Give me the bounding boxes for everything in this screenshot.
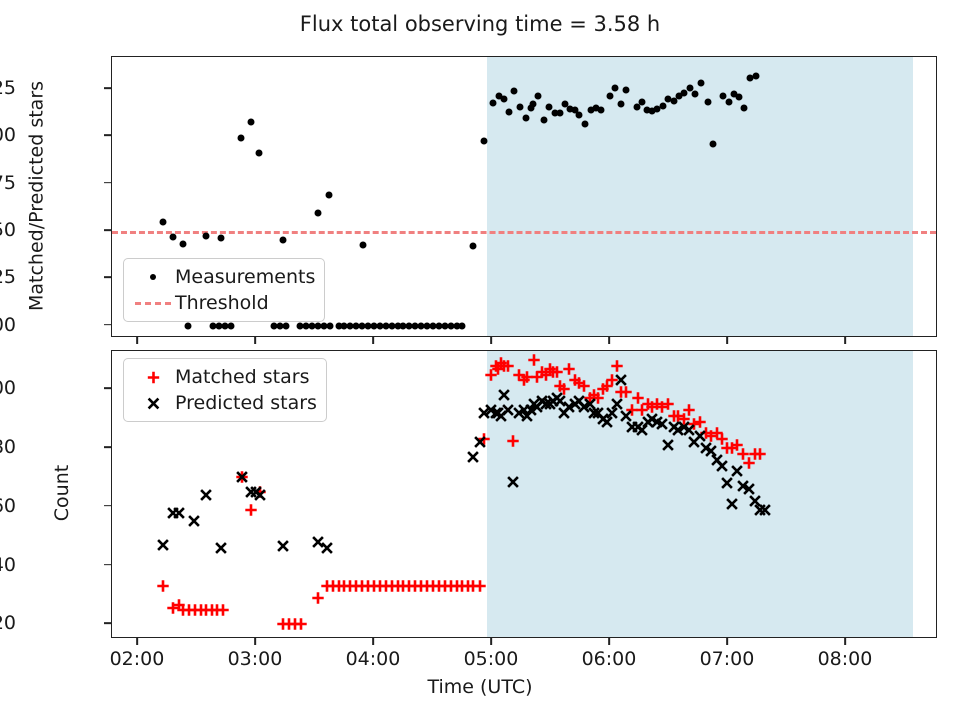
measurement-point xyxy=(500,96,507,103)
matched-star-point xyxy=(473,580,486,593)
threshold-line xyxy=(112,231,936,234)
matched-star-point xyxy=(216,603,229,616)
predicted-star-point xyxy=(320,541,333,554)
measurement-point xyxy=(459,322,466,329)
y-tick-mark xyxy=(104,229,111,231)
threshold-marker-icon xyxy=(135,302,171,305)
measurement-point xyxy=(581,121,588,128)
y-tick-label: 80 xyxy=(0,436,16,458)
measurement-point xyxy=(576,112,583,119)
legend-key xyxy=(131,371,175,384)
legend-label: Measurements xyxy=(175,266,315,288)
predicted-star-point xyxy=(720,477,733,490)
predicted-star-point xyxy=(731,465,744,478)
measurement-point xyxy=(691,91,698,98)
matched-star-point xyxy=(506,434,519,447)
matched-star-point xyxy=(294,618,307,631)
y-tick-mark xyxy=(104,446,111,448)
y-tick-mark xyxy=(104,564,111,566)
y-tick-mark xyxy=(104,182,111,184)
predicted-star-point xyxy=(716,459,729,472)
measurement-point xyxy=(622,86,629,93)
legend-label: Matched stars xyxy=(175,366,309,388)
measurement-point xyxy=(720,92,727,99)
measurement-point xyxy=(556,109,563,116)
predicted-star-point xyxy=(253,489,266,502)
y-tick-label: 0.50 xyxy=(0,219,16,241)
x-tick-mark xyxy=(726,337,728,344)
measurement-point xyxy=(517,103,524,110)
y-tick-mark xyxy=(104,277,111,279)
measurement-point xyxy=(735,93,742,100)
measurement-point xyxy=(326,191,333,198)
y-tick-label: 0.75 xyxy=(0,172,16,194)
predicted-star-point xyxy=(615,374,628,387)
x-tick-mark xyxy=(844,337,846,344)
legend-label: Predicted stars xyxy=(175,392,317,414)
y-tick-label: 20 xyxy=(0,612,16,634)
predicted-star-point xyxy=(758,503,771,516)
x-tick-mark xyxy=(490,337,492,344)
x-tick-label: 08:00 xyxy=(818,648,873,670)
predicted-star-marker-icon xyxy=(147,397,160,410)
measurement-point xyxy=(710,141,717,148)
predicted-star-point xyxy=(473,436,486,449)
y-tick-mark xyxy=(104,324,111,326)
matched-star-point xyxy=(753,447,766,460)
measurement-point xyxy=(237,135,244,142)
x-tick-mark xyxy=(608,337,610,344)
measurement-point xyxy=(540,117,547,124)
measurements-marker-icon xyxy=(150,274,156,280)
measurement-point xyxy=(359,242,366,249)
x-tick-mark xyxy=(136,638,138,645)
y-tick-label: 40 xyxy=(0,554,16,576)
x-tick-mark xyxy=(726,638,728,645)
measurement-point xyxy=(326,322,333,329)
x-tick-mark xyxy=(372,638,374,645)
y-tick-label: 1.25 xyxy=(0,77,16,99)
x-tick-label: 03:00 xyxy=(228,648,283,670)
y-tick-mark xyxy=(104,387,111,389)
legend-key xyxy=(131,274,175,280)
measurement-point xyxy=(612,85,619,92)
x-tick-mark xyxy=(372,337,374,344)
x-tick-label: 02:00 xyxy=(110,648,165,670)
ratio-y-axis-label: Matched/Predicted stars xyxy=(26,55,48,336)
y-tick-mark xyxy=(104,622,111,624)
y-tick-label: 60 xyxy=(0,495,16,517)
x-tick-mark xyxy=(608,638,610,645)
x-tick-mark xyxy=(490,638,492,645)
ratio-legend: MeasurementsThreshold xyxy=(123,258,325,322)
legend-key xyxy=(131,302,175,305)
x-tick-mark xyxy=(844,638,846,645)
measurement-point xyxy=(522,114,529,121)
measurement-point xyxy=(179,240,186,247)
measurement-point xyxy=(697,79,704,86)
y-tick-label: 0.25 xyxy=(0,266,16,288)
y-tick-label: 0.00 xyxy=(0,314,16,336)
measurement-point xyxy=(638,98,645,105)
matched-star-point xyxy=(611,359,624,372)
predicted-star-point xyxy=(199,489,212,502)
predicted-star-point xyxy=(506,475,519,488)
x-tick-mark xyxy=(254,638,256,645)
predicted-star-point xyxy=(235,471,248,484)
measurement-point xyxy=(740,105,747,112)
legend-entry: Predicted stars xyxy=(131,390,317,416)
predicted-star-point xyxy=(172,506,185,519)
legend-label: Threshold xyxy=(175,292,269,314)
measurement-point xyxy=(506,108,513,115)
count-y-axis-label: Count xyxy=(51,349,73,637)
measurement-point xyxy=(160,219,167,226)
x-tick-label: 04:00 xyxy=(346,648,401,670)
x-tick-label: 06:00 xyxy=(582,648,637,670)
measurement-point xyxy=(170,233,177,240)
y-tick-mark xyxy=(104,505,111,507)
measurement-point xyxy=(606,93,613,100)
legend-entry: Measurements xyxy=(131,264,315,290)
predicted-star-point xyxy=(661,439,674,452)
measurement-point xyxy=(283,322,290,329)
y-tick-label: 1.00 xyxy=(0,124,16,146)
predicted-star-point xyxy=(214,541,227,554)
legend-entry: Threshold xyxy=(131,290,315,316)
measurement-point xyxy=(247,118,254,125)
legend-key xyxy=(131,397,175,410)
measurement-point xyxy=(660,103,667,110)
measurement-point xyxy=(529,100,536,107)
measurement-point xyxy=(228,322,235,329)
measurement-point xyxy=(726,99,733,106)
x-tick-mark xyxy=(254,337,256,344)
y-tick-mark xyxy=(104,87,111,89)
x-tick-mark xyxy=(136,337,138,344)
predicted-star-point xyxy=(726,497,739,510)
matched-star-point xyxy=(311,591,324,604)
measurement-point xyxy=(598,106,605,113)
measurement-point xyxy=(617,101,624,108)
measurement-point xyxy=(511,88,518,95)
predicted-star-point xyxy=(188,515,201,528)
measurement-point xyxy=(534,93,541,100)
predicted-star-point xyxy=(497,389,510,402)
figure: Flux total observing time = 3.58 h 0.000… xyxy=(0,0,960,720)
measurement-point xyxy=(704,99,711,106)
measurement-point xyxy=(255,150,262,157)
matched-star-point xyxy=(245,503,258,516)
measurement-point xyxy=(217,235,224,242)
matched-star-marker-icon xyxy=(147,371,160,384)
predicted-star-point xyxy=(157,538,170,551)
figure-title: Flux total observing time = 3.58 h xyxy=(0,12,960,36)
measurement-point xyxy=(470,242,477,249)
predicted-star-point xyxy=(277,540,290,553)
measurement-point xyxy=(314,209,321,216)
y-tick-label: 100 xyxy=(0,377,16,399)
measurement-point xyxy=(202,232,209,239)
matched-star-point xyxy=(157,580,170,593)
measurement-point xyxy=(280,237,287,244)
measurement-point xyxy=(184,322,191,329)
predicted-star-point xyxy=(467,450,480,463)
measurement-point xyxy=(481,137,488,144)
measurement-point xyxy=(752,73,759,80)
legend-entry: Matched stars xyxy=(131,364,317,390)
x-tick-label: 07:00 xyxy=(700,648,755,670)
y-tick-mark xyxy=(104,135,111,137)
x-axis-label: Time (UTC) xyxy=(0,676,960,698)
x-tick-label: 05:00 xyxy=(464,648,519,670)
measurement-point xyxy=(490,100,497,107)
count-legend: Matched starsPredicted stars xyxy=(123,358,327,422)
